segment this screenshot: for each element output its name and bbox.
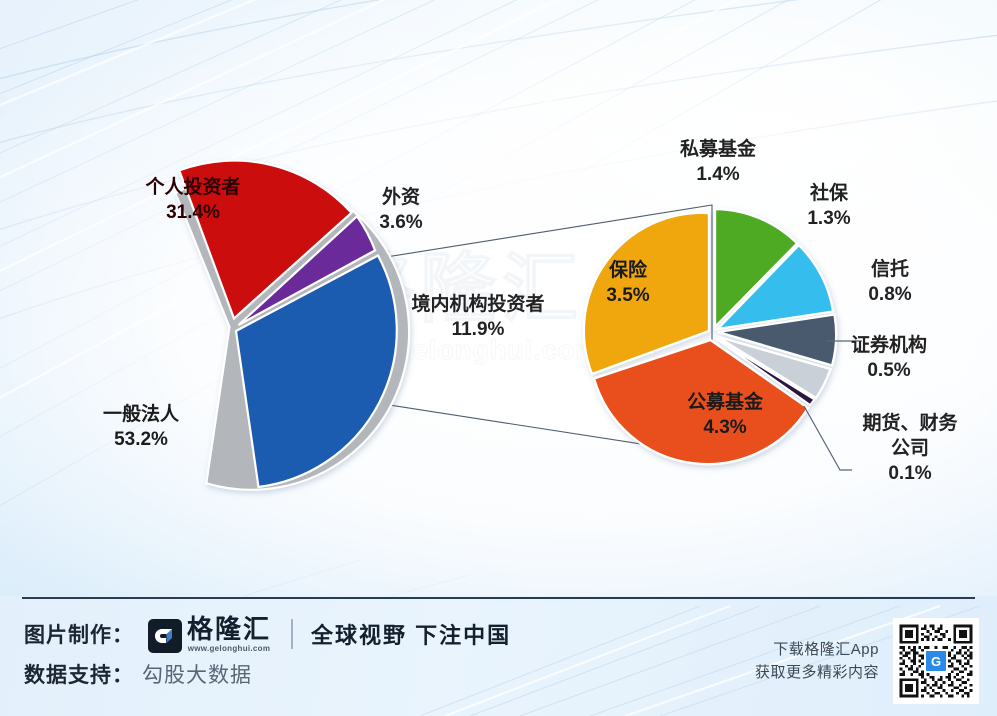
qr-code[interactable]: G <box>893 618 979 704</box>
label-public-fund-pct: 4.3% <box>665 415 785 440</box>
label-private-fund-pct: 1.4% <box>658 162 778 187</box>
label-securities-institution-name: 证券机构 <box>827 333 951 358</box>
label-domestic-institution-name: 境内机构投资者 <box>383 292 573 317</box>
label-general-corporate-pct: 53.2% <box>68 427 214 452</box>
label-public-fund: 公募基金 4.3% <box>665 390 785 440</box>
label-foreign-capital: 外资 3.6% <box>338 185 464 235</box>
label-trust: 信托 0.8% <box>843 257 937 307</box>
label-social-security-name: 社保 <box>782 181 876 206</box>
footer-slogan: 全球视野 下注中国 <box>311 618 511 650</box>
label-futures-finance-company-name2: 公司 <box>844 436 976 461</box>
qr-center-logo: G <box>924 649 948 673</box>
footer-made-by-label: 图片制作： <box>24 619 134 649</box>
label-securities-institution: 证券机构 0.5% <box>827 333 951 383</box>
label-individual-investor-name: 个人投资者 <box>108 175 278 200</box>
qr-caption: 下载格隆汇App 获取更多精彩内容 <box>755 638 879 684</box>
label-futures-finance-company-pct: 0.1% <box>844 461 976 486</box>
label-trust-pct: 0.8% <box>843 282 937 307</box>
label-individual-investor: 个人投资者 31.4% <box>108 175 278 225</box>
label-insurance-name: 保险 <box>588 258 668 283</box>
footer-vertical-divider <box>291 619 293 649</box>
label-trust-name: 信托 <box>843 257 937 282</box>
charts-container: 个人投资者 31.4% 外资 3.6% 境内机构投资者 11.9% 一般法人 5… <box>0 0 997 596</box>
qr-caption-line2: 获取更多精彩内容 <box>755 661 879 684</box>
label-foreign-capital-pct: 3.6% <box>338 210 464 235</box>
gelonghui-logo[interactable]: 格隆汇 www.gelonghui.com <box>148 615 271 653</box>
gelonghui-logo-text: 格隆汇 www.gelonghui.com <box>187 615 271 653</box>
footer-app-promo: 下载格隆汇App 获取更多精彩内容 <box>755 618 979 704</box>
footer-data-by-label: 数据支持： <box>24 659 134 689</box>
label-private-fund-name: 私募基金 <box>658 137 778 162</box>
label-domestic-institution-pct: 11.9% <box>383 317 573 342</box>
label-social-security: 社保 1.3% <box>782 181 876 231</box>
footer-data-by-value: 勾股大数据 <box>142 659 252 689</box>
gelonghui-logo-cn: 格隆汇 <box>187 615 271 643</box>
label-domestic-institution: 境内机构投资者 11.9% <box>383 292 573 342</box>
label-foreign-capital-name: 外资 <box>338 185 464 210</box>
label-general-corporate-name: 一般法人 <box>68 402 214 427</box>
label-futures-finance-company-name: 期货、财务 <box>844 411 976 436</box>
label-social-security-pct: 1.3% <box>782 206 876 231</box>
gelonghui-logo-icon <box>148 619 182 653</box>
label-individual-investor-pct: 31.4% <box>108 200 278 225</box>
footer: 图片制作： 格隆汇 www.gelonghui.com 全球视野 下注中国 <box>0 596 997 716</box>
footer-data-by-row: 数据支持： 勾股大数据 <box>24 654 511 694</box>
label-public-fund-name: 公募基金 <box>665 390 785 415</box>
label-insurance: 保险 3.5% <box>588 258 668 308</box>
label-securities-institution-pct: 0.5% <box>827 358 951 383</box>
qr-caption-line1: 下载格隆汇App <box>755 638 879 661</box>
footer-made-by-row: 图片制作： 格隆汇 www.gelonghui.com 全球视野 下注中国 <box>24 614 511 654</box>
label-general-corporate: 一般法人 53.2% <box>68 402 214 452</box>
label-futures-finance-company: 期货、财务 公司 0.1% <box>844 411 976 486</box>
label-insurance-pct: 3.5% <box>588 283 668 308</box>
label-private-fund: 私募基金 1.4% <box>658 137 778 187</box>
footer-credits: 图片制作： 格隆汇 www.gelonghui.com 全球视野 下注中国 <box>24 614 511 694</box>
chart-canvas: 格隆汇 www.gelonghui.com <box>0 0 997 716</box>
gelonghui-logo-url: www.gelonghui.com <box>188 644 271 653</box>
